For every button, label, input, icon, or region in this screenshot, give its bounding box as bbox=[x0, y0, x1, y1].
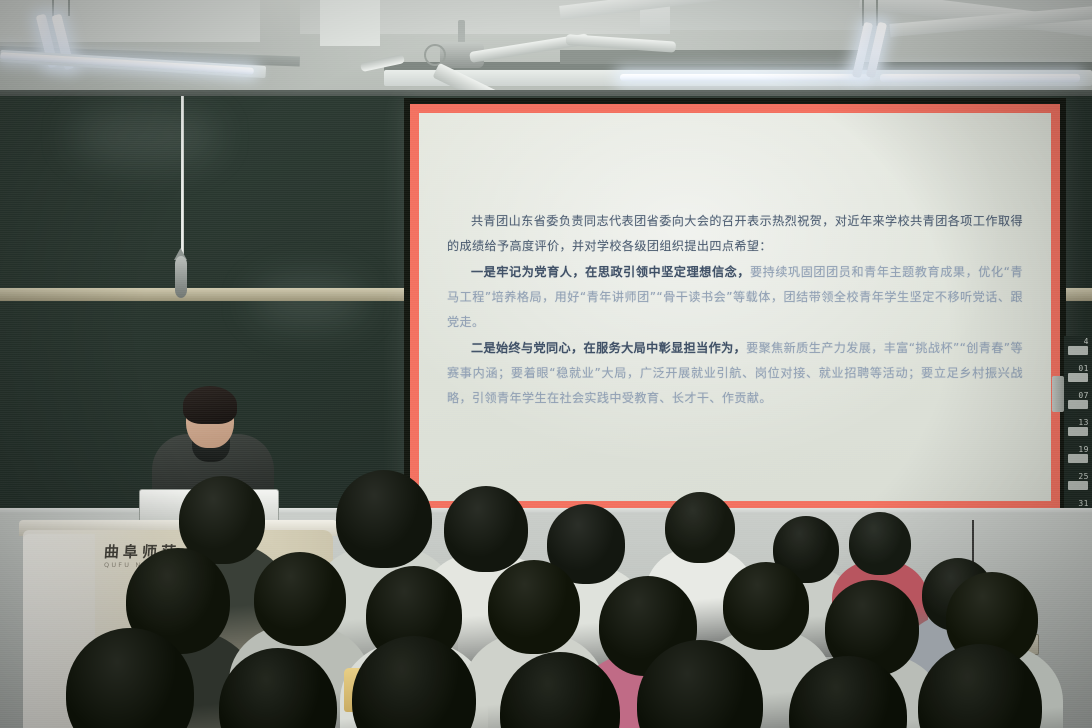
slide-border: 共青团山东省委负责同志代表团省委向大会的召开表示热烈祝贺，对近年来学校共青团各项… bbox=[410, 104, 1060, 510]
audience-head bbox=[444, 486, 528, 572]
wall-chart-label: 31 bbox=[1078, 499, 1089, 508]
wall-chart-label: 01 bbox=[1078, 364, 1089, 373]
presenter-hair bbox=[183, 386, 237, 424]
audience-head bbox=[254, 552, 346, 646]
lecture-hall-photo: 共青团山东省委负责同志代表团省委向大会的召开表示热烈祝贺，对近年来学校共青团各项… bbox=[0, 0, 1092, 728]
fan-guard-icon bbox=[424, 44, 446, 66]
wall-chart-tab bbox=[1052, 376, 1064, 412]
audience-head bbox=[723, 562, 809, 650]
light-hanger bbox=[68, 0, 70, 16]
light-hanger bbox=[52, 0, 54, 16]
wall-chart: 4010713192531 bbox=[1064, 336, 1092, 536]
wall-chart-row bbox=[1068, 454, 1088, 463]
projection-screen[interactable]: 共青团山东省委负责同志代表团省委向大会的召开表示热烈祝贺，对近年来学校共青团各项… bbox=[404, 98, 1066, 516]
wall-chart-row bbox=[1068, 373, 1088, 382]
fluorescent-tube bbox=[880, 74, 1080, 82]
wall-chart-label: 19 bbox=[1078, 445, 1089, 454]
audience-head bbox=[336, 470, 432, 568]
microphone-cable bbox=[181, 96, 184, 254]
wall-chart-label: 13 bbox=[1078, 418, 1089, 427]
slide-canvas: 共青团山东省委负责同志代表团省委向大会的召开表示热烈祝贺，对近年来学校共青团各项… bbox=[419, 113, 1051, 501]
audience-head bbox=[488, 560, 580, 654]
wall-chart-row bbox=[1068, 481, 1088, 490]
wall-chart-row bbox=[1068, 346, 1088, 355]
ceiling bbox=[0, 0, 1092, 104]
fluorescent-tube bbox=[620, 74, 870, 81]
wall-chart-label: 4 bbox=[1084, 337, 1089, 346]
slide-paragraph-2: 一是牢记为党育人，在思政引领中坚定理想信念，要持续巩固团团员和青年主题教育成果，… bbox=[447, 260, 1023, 335]
audience-head bbox=[665, 492, 735, 563]
wall-chart-label: 25 bbox=[1078, 472, 1089, 481]
audience-head bbox=[849, 512, 911, 575]
slide-paragraph-1: 共青团山东省委负责同志代表团省委向大会的召开表示热烈祝贺，对近年来学校共青团各项… bbox=[447, 209, 1023, 259]
slide-paragraph-3: 二是始终与党同心，在服务大局中彰显担当作为，要聚焦新质生产力发展，丰富“挑战杯”… bbox=[447, 336, 1023, 411]
hanging-microphone bbox=[175, 256, 187, 298]
wall-chart-label: 07 bbox=[1078, 391, 1089, 400]
slide-text-block: 共青团山东省委负责同志代表团省委向大会的召开表示热烈祝贺，对近年来学校共青团各项… bbox=[419, 209, 1051, 412]
wall-chart-row bbox=[1068, 427, 1088, 436]
wall-chart-row bbox=[1068, 400, 1088, 409]
